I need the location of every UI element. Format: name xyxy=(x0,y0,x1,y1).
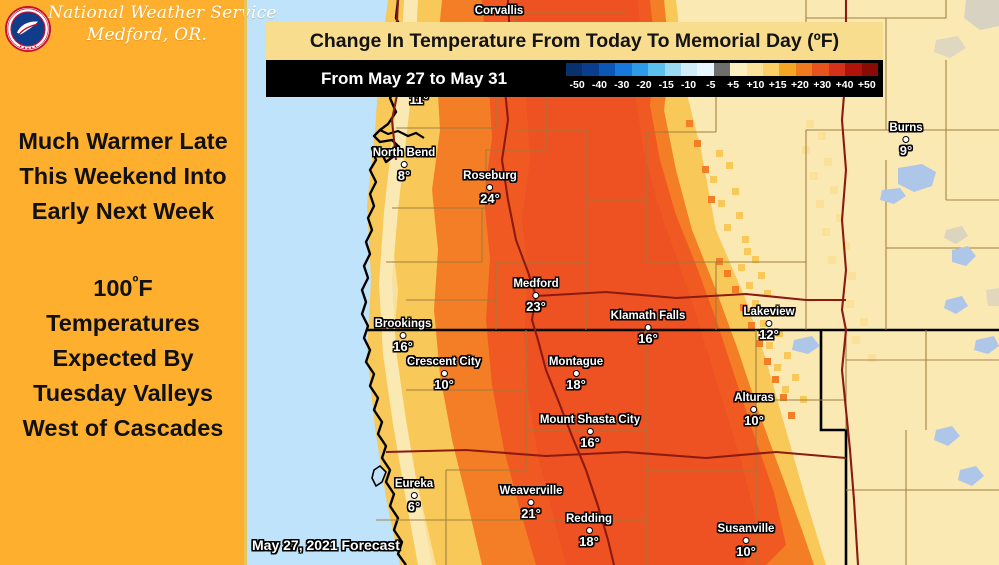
city-label-crescent-city: Crescent City xyxy=(407,356,481,369)
colorbar-swatch-7 xyxy=(681,63,697,76)
city-marker-roseburg[interactable]: Roseburg24° xyxy=(463,170,517,206)
city-marker-klamath-falls[interactable]: Klamath Falls16° xyxy=(611,310,686,346)
city-label-burns: Burns xyxy=(889,122,922,135)
city-dot-klamath-falls xyxy=(645,324,652,331)
city-marker-crescent-city[interactable]: Crescent City10° xyxy=(407,356,481,392)
city-marker-redding[interactable]: Redding18° xyxy=(566,513,612,549)
colorbar-swatch-14 xyxy=(796,63,812,76)
city-dot-susanville xyxy=(742,537,749,544)
city-value-burns: 9° xyxy=(889,143,922,158)
city-dot-weaverville xyxy=(528,499,535,506)
city-marker-alturas[interactable]: Alturas10° xyxy=(734,392,774,428)
city-dot-eureka xyxy=(410,492,417,499)
colorbar-swatch-11 xyxy=(747,63,763,76)
colorbar-swatch-16 xyxy=(829,63,845,76)
headline-line-1: Much Warmer Late xyxy=(0,124,246,159)
colorbar-tick-plus30: +30 xyxy=(811,77,833,94)
colorbar-tick-minus5: -5 xyxy=(700,77,722,94)
city-dot-alturas xyxy=(751,406,758,413)
city-value-susanville: 10° xyxy=(718,544,775,559)
colorbar-tick-plus40: +40 xyxy=(833,77,855,94)
city-value-alturas: 10° xyxy=(734,413,774,428)
colorbar-tick-minus40: -40 xyxy=(588,77,610,94)
agency-line-1: National Weather Service xyxy=(48,2,246,24)
colorbar-swatch-13 xyxy=(779,63,795,76)
city-label-montague: Montague xyxy=(549,356,603,369)
city-marker-montague[interactable]: Montague18° xyxy=(549,356,603,392)
colorbar-tick-plus15: +15 xyxy=(767,77,789,94)
colorbar-swatch-17 xyxy=(845,63,861,76)
city-label-brookings: Brookings xyxy=(375,318,432,331)
city-label-corvallis: Corvallis xyxy=(475,5,524,18)
city-value-redding: 18° xyxy=(566,534,612,549)
city-value-crescent-city: 10° xyxy=(407,377,481,392)
city-value-lakeview: 12° xyxy=(743,327,794,342)
forecast-date-stamp: May 27, 2021 Forecast xyxy=(252,537,400,553)
city-marker-medford[interactable]: Medford23° xyxy=(513,278,558,314)
city-dot-mount-shasta-city xyxy=(587,428,594,435)
headline-line-2: This Weekend Into xyxy=(0,159,246,194)
colorbar-tick-minus20: -20 xyxy=(633,77,655,94)
secondary-line-4: Tuesday Valleys xyxy=(0,376,246,411)
city-marker-weaverville[interactable]: Weaverville21° xyxy=(499,485,562,521)
colorbar-tick-plus50: +50 xyxy=(856,77,878,94)
colorbar-tick-labels: -50-40-30-20-15-10-5+5+10+15+20+30+40+50 xyxy=(566,77,878,94)
sidebar-panel: National Weather Service Medford, OR. Mu… xyxy=(0,0,246,565)
colorbar-swatch-12 xyxy=(763,63,779,76)
colorbar-swatch-5 xyxy=(648,63,664,76)
colorbar-swatch-4 xyxy=(632,63,648,76)
city-label-alturas: Alturas xyxy=(734,392,774,405)
city-dot-crescent-city xyxy=(440,370,447,377)
chart-title-bar: Change In Temperature From Today To Memo… xyxy=(266,22,883,60)
colorbar-swatch-0 xyxy=(566,63,582,76)
city-label-north-bend: North Bend xyxy=(373,147,436,160)
city-value-roseburg: 24° xyxy=(463,191,517,206)
secondary-line-1: 100ºF xyxy=(0,265,246,306)
legend-date-range-label: From May 27 to May 31 xyxy=(266,69,562,89)
city-marker-brookings[interactable]: Brookings16° xyxy=(375,318,432,354)
city-label-klamath-falls: Klamath Falls xyxy=(611,310,686,323)
city-value-north-bend: 8° xyxy=(373,168,436,183)
secondary-message: 100ºFTemperaturesExpected ByTuesday Vall… xyxy=(0,265,246,446)
colorbar-swatch-10 xyxy=(730,63,746,76)
colorbar-tick-minus15: -15 xyxy=(655,77,677,94)
colorbar-tick-plus10: +10 xyxy=(744,77,766,94)
colorbar-swatches xyxy=(566,63,878,76)
city-value-montague: 18° xyxy=(549,377,603,392)
city-marker-susanville[interactable]: Susanville10° xyxy=(718,523,775,559)
city-value-brookings: 16° xyxy=(375,339,432,354)
headline-message: Much Warmer LateThis Weekend IntoEarly N… xyxy=(0,124,246,229)
colorbar-tick-minus50: -50 xyxy=(566,77,588,94)
legend-bar: From May 27 to May 31 -50-40-30-20-15-10… xyxy=(266,60,883,97)
city-marker-north-bend[interactable]: North Bend8° xyxy=(373,147,436,183)
colorbar-tick-plus5: +5 xyxy=(722,77,744,94)
city-label-mount-shasta-city: Mount Shasta City xyxy=(540,414,640,427)
city-dot-redding xyxy=(586,527,593,534)
city-value-eureka: 6° xyxy=(395,499,433,514)
colorbar-swatch-2 xyxy=(599,63,615,76)
city-label-medford: Medford xyxy=(513,278,558,291)
page-title: Change In Temperature From Today To Memo… xyxy=(310,30,839,53)
branding-header: National Weather Service Medford, OR. xyxy=(0,2,246,54)
city-label-weaverville: Weaverville xyxy=(499,485,562,498)
city-label-redding: Redding xyxy=(566,513,612,526)
city-label-lakeview: Lakeview xyxy=(743,306,794,319)
city-dot-lakeview xyxy=(766,320,773,327)
city-marker-mount-shasta-city[interactable]: Mount Shasta City16° xyxy=(540,414,640,450)
colorbar-swatch-15 xyxy=(812,63,828,76)
colorbar-tick-minus30: -30 xyxy=(611,77,633,94)
city-dot-medford xyxy=(532,292,539,299)
headline-line-3: Early Next Week xyxy=(0,194,246,229)
secondary-line-3: Expected By xyxy=(0,341,246,376)
sidebar-divider xyxy=(244,0,247,565)
weather-graphic: Change In Temperature From Today To Memo… xyxy=(0,0,999,565)
colorbar-swatch-18 xyxy=(862,63,878,76)
nws-logo-icon xyxy=(5,6,51,52)
city-label-susanville: Susanville xyxy=(718,523,775,536)
colorbar-swatch-6 xyxy=(665,63,681,76)
city-marker-lakeview[interactable]: Lakeview12° xyxy=(743,306,794,342)
city-label-eureka: Eureka xyxy=(395,478,433,491)
city-dot-brookings xyxy=(400,332,407,339)
city-marker-burns[interactable]: Burns9° xyxy=(889,122,922,158)
agency-line-2: Medford, OR. xyxy=(48,24,246,46)
city-value-weaverville: 21° xyxy=(499,506,562,521)
colorbar-tick-minus10: -10 xyxy=(677,77,699,94)
secondary-line-5: West of Cascades xyxy=(0,411,246,446)
colorbar-swatch-1 xyxy=(582,63,598,76)
city-marker-corvallis[interactable]: Corvallis xyxy=(475,5,524,18)
secondary-line-2: Temperatures xyxy=(0,306,246,341)
agency-name: National Weather Service Medford, OR. xyxy=(48,2,246,46)
colorbar-swatch-3 xyxy=(615,63,631,76)
colorbar-swatch-9 xyxy=(714,63,730,76)
city-label-roseburg: Roseburg xyxy=(463,170,517,183)
city-dot-roseburg xyxy=(486,184,493,191)
city-dot-montague xyxy=(573,370,580,377)
city-dot-burns xyxy=(902,136,909,143)
city-dot-north-bend xyxy=(400,161,407,168)
city-marker-eureka[interactable]: Eureka6° xyxy=(395,478,433,514)
city-value-mount-shasta-city: 16° xyxy=(540,435,640,450)
city-value-klamath-falls: 16° xyxy=(611,331,686,346)
colorbar-swatch-8 xyxy=(697,63,713,76)
colorbar-tick-plus20: +20 xyxy=(789,77,811,94)
city-value-medford: 23° xyxy=(513,299,558,314)
